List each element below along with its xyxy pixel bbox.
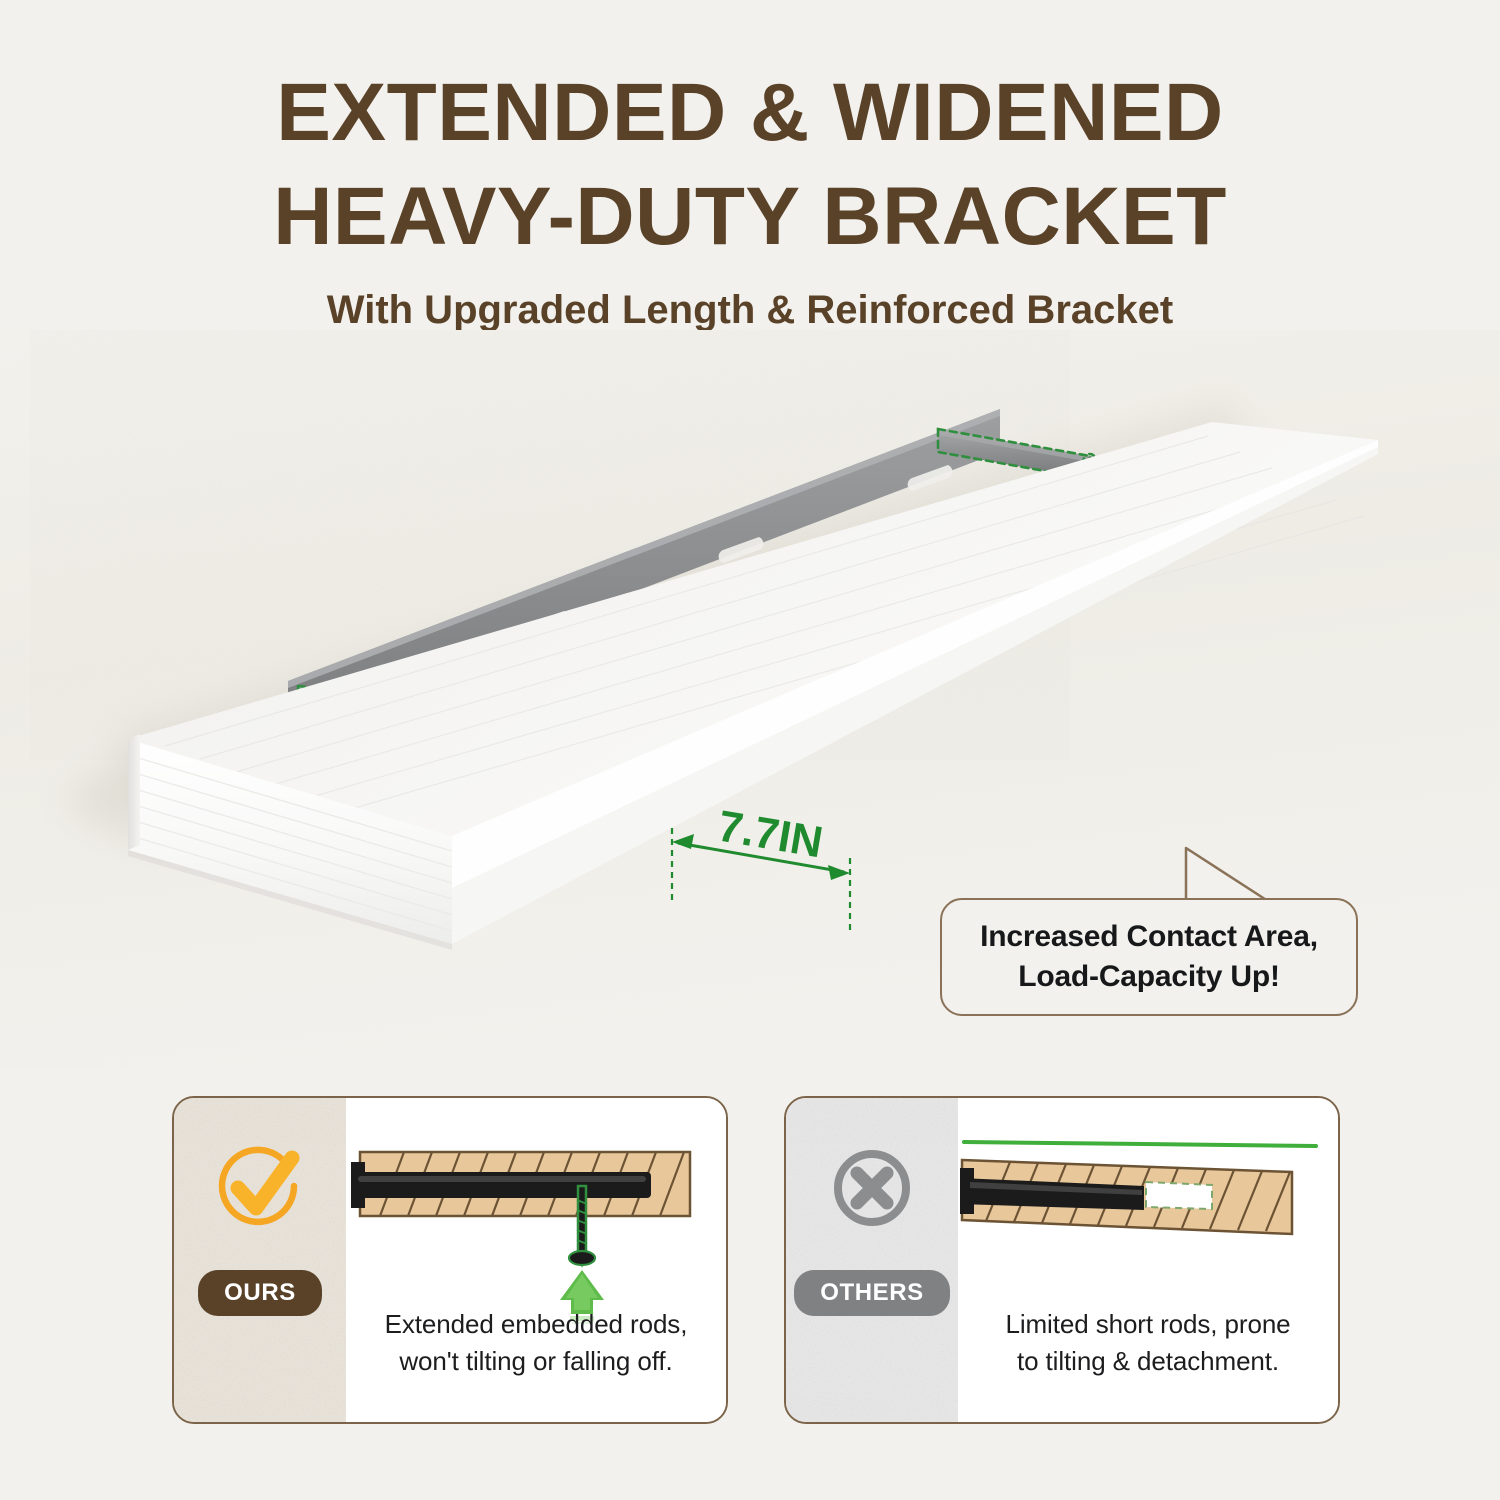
diagram-short-rod-tilted xyxy=(958,1124,1340,1324)
diagram-extended-rod xyxy=(346,1124,728,1324)
caption-line-1: Limited short rods, prone xyxy=(1005,1309,1290,1339)
callout-bubble: Increased Contact Area, Load-Capacity Up… xyxy=(940,898,1358,1016)
panel-caption-others: Limited short rods, prone to tilting & d… xyxy=(958,1306,1338,1380)
panel-badge-area-ours: OURS xyxy=(174,1098,346,1422)
panel-diagram-area-others: Limited short rods, prone to tilting & d… xyxy=(958,1098,1338,1422)
embedded-rod xyxy=(351,1172,651,1198)
comparison-panel-others: OTHERS Limited short rods, prone to tilt… xyxy=(784,1096,1340,1424)
comparison-panel-ours: OURS xyxy=(172,1096,728,1424)
panel-diagram-area-ours: Extended embedded rods, won't tilting or… xyxy=(346,1098,726,1422)
badge-others: OTHERS xyxy=(794,1270,950,1316)
x-circle-icon xyxy=(824,1140,920,1236)
page-title-line-1: EXTENDED & WIDENED xyxy=(0,0,1500,154)
header: EXTENDED & WIDENED HEAVY-DUTY BRACKET Wi… xyxy=(0,0,1500,320)
page-subtitle: With Upgraded Length & Reinforced Bracke… xyxy=(0,258,1500,333)
page-title-line-2: HEAVY-DUTY BRACKET xyxy=(0,154,1500,258)
badge-ours: OURS xyxy=(198,1270,322,1316)
caption-line-1: Extended embedded rods, xyxy=(385,1309,688,1339)
caption-line-2: to tilting & detachment. xyxy=(1017,1346,1279,1376)
callout-line-1: Increased Contact Area, xyxy=(980,917,1318,957)
panel-caption-ours: Extended embedded rods, won't tilting or… xyxy=(346,1306,726,1380)
panel-badge-area-others: OTHERS xyxy=(786,1098,958,1422)
callout-line-2: Load-Capacity Up! xyxy=(1018,957,1280,997)
reference-level-line xyxy=(964,1142,1316,1146)
caption-line-2: won't tilting or falling off. xyxy=(399,1346,672,1376)
empty-cavity xyxy=(1146,1182,1212,1209)
check-circle-icon xyxy=(212,1140,308,1236)
